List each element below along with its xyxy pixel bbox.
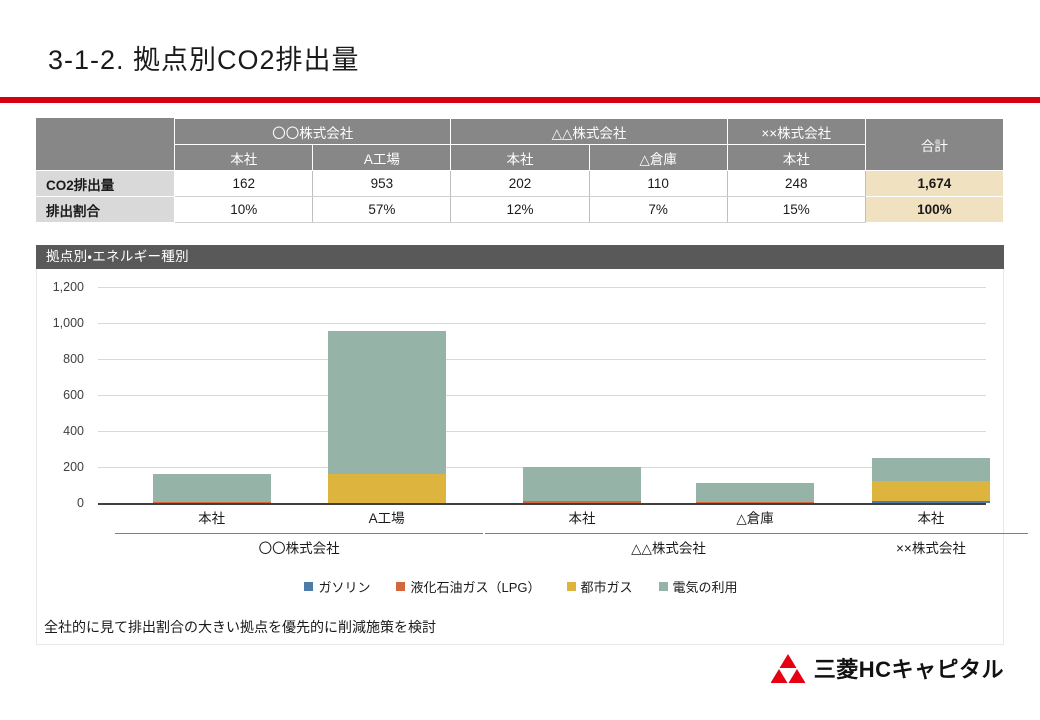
- total-header: 合計: [865, 119, 1003, 171]
- table-row: CO2排出量 162 953 202 110 248 1,674: [37, 171, 1004, 197]
- legend-swatch-icon: [567, 582, 576, 591]
- legend-label: 電気の利用: [673, 577, 738, 596]
- cell-ratio-total: 100%: [865, 197, 1003, 223]
- legend-swatch-icon: [659, 582, 668, 591]
- x-tick-label: 本社: [917, 507, 944, 527]
- group-rule: [485, 533, 852, 534]
- plot-area: 02004006008001,0001,200: [98, 287, 986, 503]
- cell-emissions-3: 202: [451, 171, 589, 197]
- company-logo: 三菱HCキャピタル: [771, 652, 1004, 684]
- x-tick-label: A工場: [369, 507, 405, 527]
- bar-stack: [328, 331, 446, 503]
- row-label-emissions: CO2排出量: [37, 171, 175, 197]
- bar-segment: [696, 483, 814, 502]
- bar-segment: [153, 502, 271, 503]
- bar-segment: [523, 501, 641, 503]
- legend-item[interactable]: ガソリン: [304, 577, 370, 596]
- summary-table: 〇〇株式会社 △△株式会社 ××株式会社 合計 本社 A工場 本社 △倉庫 本社…: [36, 118, 1004, 223]
- y-tick-label: 600: [63, 388, 84, 402]
- footnote: 全社的に見て排出割合の大きい拠点を優先的に削減施策を検討: [44, 617, 436, 637]
- y-tick-label: 1,200: [53, 280, 84, 294]
- y-tick-label: 200: [63, 460, 84, 474]
- legend-label: 都市ガス: [581, 577, 633, 596]
- legend-label: ガソリン: [318, 577, 370, 596]
- legend-item[interactable]: 液化石油ガス（LPG）: [396, 577, 540, 596]
- cell-ratio-4: 7%: [589, 197, 727, 223]
- legend-item[interactable]: 都市ガス: [567, 577, 633, 596]
- group-label: △△株式会社: [631, 537, 706, 557]
- site-header-5: 本社: [727, 145, 865, 171]
- company-header-2: △△株式会社: [451, 119, 727, 145]
- company-header-1: 〇〇株式会社: [175, 119, 451, 145]
- bar-segment: [872, 458, 990, 481]
- x-tick-label: △倉庫: [736, 507, 773, 527]
- bar-segment: [328, 474, 446, 503]
- table-header-row-site: 本社 A工場 本社 △倉庫 本社: [37, 145, 1004, 171]
- bar-1[interactable]: [153, 287, 271, 503]
- group-rule: [115, 533, 483, 534]
- cell-ratio-3: 12%: [451, 197, 589, 223]
- page-title: 3-1-2. 拠点別CO2排出量: [48, 38, 360, 77]
- y-tick-label: 1,000: [53, 316, 84, 330]
- company-header-3: ××株式会社: [727, 119, 865, 145]
- bar-stack: [153, 474, 271, 503]
- site-header-3: 本社: [451, 145, 589, 171]
- group-label: 〇〇株式会社: [259, 537, 340, 557]
- cell-ratio-2: 57%: [313, 197, 451, 223]
- row-label-ratio: 排出割合: [37, 197, 175, 223]
- group-rule: [834, 533, 1028, 534]
- legend-swatch-icon: [396, 582, 405, 591]
- bar-4[interactable]: [696, 287, 814, 503]
- site-header-1: 本社: [175, 145, 313, 171]
- group-label: ××株式会社: [896, 537, 966, 557]
- title-divider: [0, 97, 1040, 103]
- cell-ratio-5: 15%: [727, 197, 865, 223]
- bar-segment: [872, 481, 990, 501]
- cell-emissions-5: 248: [727, 171, 865, 197]
- bar-segment: [523, 467, 641, 502]
- mitsubishi-diamond-icon: [771, 653, 805, 683]
- bar-2[interactable]: [328, 287, 446, 503]
- cell-emissions-1: 162: [175, 171, 313, 197]
- table-corner-cell: [37, 119, 175, 171]
- y-tick-label: 0: [77, 496, 84, 510]
- cell-emissions-total: 1,674: [865, 171, 1003, 197]
- bar-5[interactable]: [872, 287, 990, 503]
- legend-label: 液化石油ガス（LPG）: [410, 577, 540, 596]
- site-header-2: A工場: [313, 145, 451, 171]
- bar-segment: [872, 501, 990, 503]
- bar-segment: [696, 502, 814, 503]
- bar-segment: [153, 474, 271, 502]
- x-axis: 本社A工場本社△倉庫本社〇〇株式会社△△株式会社××株式会社: [98, 505, 986, 565]
- x-tick-label: 本社: [568, 507, 595, 527]
- cell-emissions-4: 110: [589, 171, 727, 197]
- chart-title-band: 拠点別・エネルギー種別: [36, 245, 1004, 269]
- table-header-row-company: 〇〇株式会社 △△株式会社 ××株式会社 合計: [37, 119, 1004, 145]
- y-tick-label: 800: [63, 352, 84, 366]
- logo-text: 三菱HCキャピタル: [814, 652, 1004, 684]
- bar-3[interactable]: [523, 287, 641, 503]
- cell-ratio-1: 10%: [175, 197, 313, 223]
- legend-swatch-icon: [304, 582, 313, 591]
- x-tick-label: 本社: [198, 507, 225, 527]
- cell-emissions-2: 953: [313, 171, 451, 197]
- legend-item[interactable]: 電気の利用: [659, 577, 738, 596]
- bar-stack: [523, 467, 641, 503]
- chart-panel: 02004006008001,0001,200 本社A工場本社△倉庫本社〇〇株式…: [36, 269, 1004, 645]
- site-header-4: △倉庫: [589, 145, 727, 171]
- bar-segment: [328, 331, 446, 473]
- y-tick-label: 400: [63, 424, 84, 438]
- bar-stack: [872, 458, 990, 503]
- table-row: 排出割合 10% 57% 12% 7% 15% 100%: [37, 197, 1004, 223]
- chart-legend: ガソリン液化石油ガス（LPG）都市ガス電気の利用: [37, 577, 1005, 596]
- bar-stack: [696, 483, 814, 503]
